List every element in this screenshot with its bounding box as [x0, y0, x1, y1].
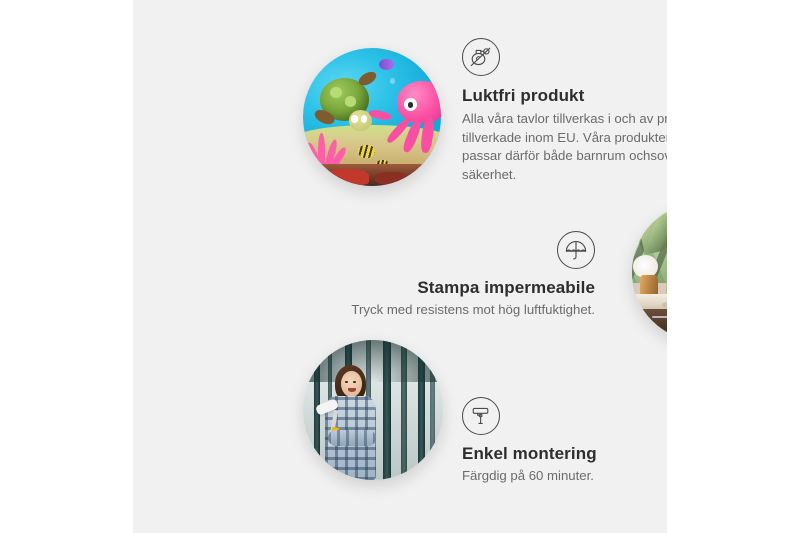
feature-block-luktfri-produkt: Luktfri produkt Alla våra tavlor tillver… [462, 38, 667, 185]
forest-scene-art [303, 340, 443, 480]
fish-icon [358, 145, 375, 159]
woman-arm [328, 430, 376, 447]
feature-description: Tryck med resistens mot hög luftfuktighe… [333, 301, 595, 320]
photo-woman-in-forest-mural[interactable] [303, 340, 443, 480]
fish-icon [379, 59, 394, 70]
feature-title: Stampa impermeabile [333, 278, 595, 298]
coral-icon [309, 131, 350, 167]
photo-bathroom-botanical-wallpaper[interactable] [632, 203, 667, 341]
feature-block-enkel-montering: Enkel montering Färgdig på 60 minuter. [462, 397, 667, 486]
paint-roller-icon [462, 397, 500, 435]
vanity-cabinet [635, 309, 667, 341]
forest-canopy [303, 340, 443, 382]
octopus-head [397, 81, 441, 122]
leaf-icon [636, 206, 667, 255]
umbrella-icon [557, 231, 595, 269]
feature-description: Färgdig på 60 minuter. [462, 467, 667, 486]
woman-smile [348, 388, 356, 392]
soap-dish [662, 302, 667, 308]
no-odor-perfume-bottle-icon [462, 38, 500, 76]
photo-underwater-kids-scene[interactable] [303, 48, 441, 186]
counter-top [632, 294, 667, 311]
feature-description: Alla våra tavlor tillverkas i och av pro… [462, 110, 667, 185]
feature-title: Enkel montering [462, 444, 667, 464]
underwater-scene-art [303, 48, 441, 186]
sea-floor [303, 164, 441, 186]
feature-panel: Luktfri produkt Alla våra tavlor tillver… [133, 0, 667, 533]
feature-block-stampa-impermeabile: Stampa impermeabile Tryck med resistens … [333, 231, 595, 320]
bathroom-scene-art [632, 203, 667, 341]
screenshot-root: Luktfri produkt Alla våra tavlor tillver… [0, 0, 800, 533]
octopus-eye [404, 98, 417, 110]
woman-face [341, 371, 362, 398]
feature-title: Luktfri produkt [462, 86, 667, 106]
